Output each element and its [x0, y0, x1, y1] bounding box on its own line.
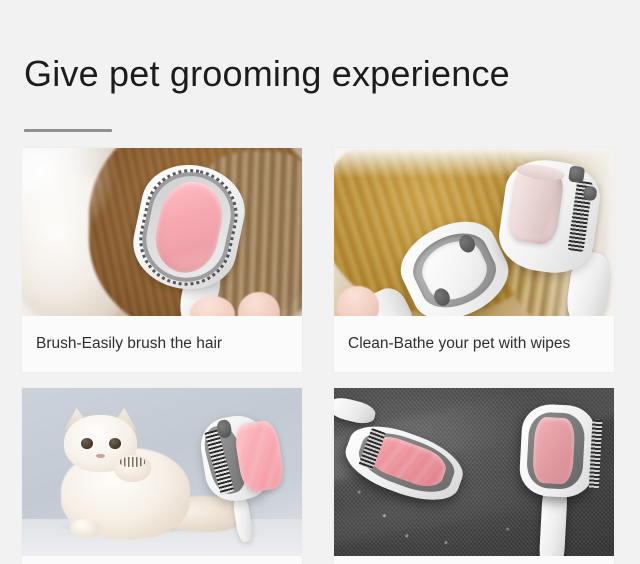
feature-caption-text: Brush-Easily brush the hair	[36, 334, 222, 354]
feature-caption-bar	[334, 556, 614, 564]
feature-image-brush	[22, 148, 302, 316]
page-title: Give pet grooming experience	[24, 52, 624, 96]
brush-knob	[568, 166, 585, 183]
scene-highlight	[22, 148, 117, 249]
feature-caption-bar	[22, 556, 302, 564]
feature-card-brush[interactable]: Brush-Easily brush the hair	[22, 148, 302, 372]
feature-caption-text: Clean-Bathe your pet with wipes	[348, 334, 570, 354]
page-header: Give pet grooming experience	[24, 52, 624, 96]
feature-image-cat-product	[22, 388, 302, 556]
feature-card-grid: Brush-Easily brush the hair	[22, 148, 620, 564]
brush-product	[193, 409, 299, 533]
title-underline-rule	[24, 129, 112, 132]
brush-pink-pad	[532, 416, 575, 484]
feature-image-clean	[334, 148, 614, 316]
feature-caption-bar: Clean-Bathe your pet with wipes	[334, 316, 614, 372]
brush-comb-teeth	[589, 419, 602, 489]
cat-nose	[96, 454, 105, 458]
cat-paw-toes	[120, 457, 145, 467]
feature-card-cat-product[interactable]	[22, 388, 302, 564]
cat-front-paw	[70, 519, 101, 537]
feature-card-texture-product[interactable]	[334, 388, 614, 564]
brush-product-right	[509, 402, 612, 556]
feature-caption-bar: Brush-Easily brush the hair	[22, 316, 302, 372]
brush-head-rolled-wipe	[495, 155, 605, 278]
feature-card-clean[interactable]: Clean-Bathe your pet with wipes	[334, 148, 614, 372]
product-detail-page: Give pet grooming experience	[0, 0, 640, 564]
feature-image-texture-product	[334, 388, 614, 556]
